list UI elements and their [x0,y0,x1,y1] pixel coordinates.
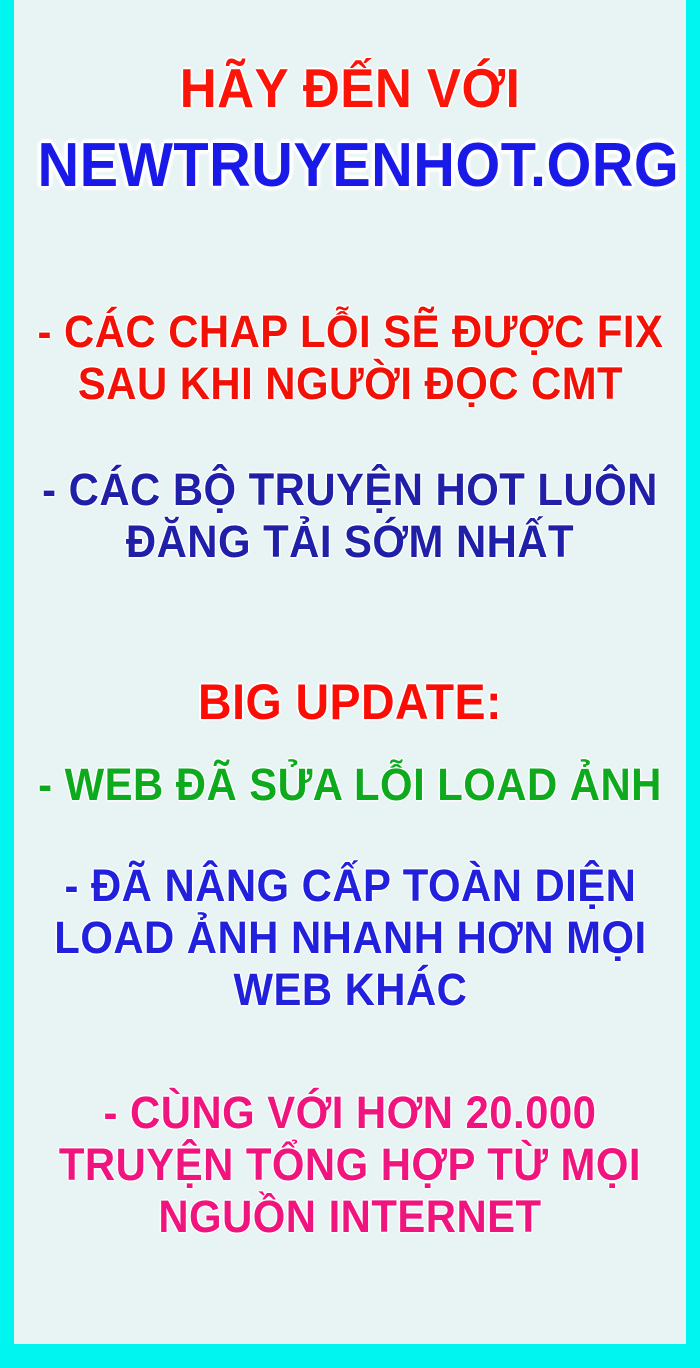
update-pink-line-1: - CÙNG VỚI HƠN 20.000 [59,1090,641,1136]
update-blue-line-1: - ĐÃ NÂNG CẤP TOÀN DIỆN [54,863,646,909]
update-pink-line-3: NGUỒN INTERNET [59,1194,641,1240]
notice-block-red: - CÁC CHAP LỖI SẼ ĐƯỢC FIX SAU KHI NGƯỜI… [14,309,687,407]
notice-navy-line-1: - CÁC BỘ TRUYỆN HOT LUÔN [42,467,658,513]
banner-headline: HÃY ĐẾN VỚI [38,60,663,116]
update-blue-line-2: LOAD ẢNH NHANH HƠN MỌI [54,915,646,961]
notice-block-navy: - CÁC BỘ TRUYỆN HOT LUÔN ĐĂNG TẢI SỚM NH… [19,467,681,565]
update-blue-line-3: WEB KHÁC [54,967,646,1013]
notice-red-line-1: - CÁC CHAP LỖI SẼ ĐƯỢC FIX [37,309,663,355]
update-section-title: BIG UPDATE: [38,677,663,728]
promo-banner: HÃY ĐẾN VỚI NEWTRUYENHOT.ORG - CÁC CHAP … [0,0,700,1368]
update-pink-line-2: TRUYỆN TỔNG HỢP TỪ MỌI [59,1142,641,1188]
update-item-pink: - CÙNG VỚI HƠN 20.000 TRUYỆN TỔNG HỢP TỪ… [37,1090,663,1240]
update-item-blue: - ĐÃ NÂNG CẤP TOÀN DIỆN LOAD ẢNH NHANH H… [32,863,669,1013]
notice-red-line-2: SAU KHI NGƯỜI ĐỌC CMT [37,361,663,407]
banner-content-panel: HÃY ĐẾN VỚI NEWTRUYENHOT.ORG - CÁC CHAP … [14,0,686,1344]
update-item-green: - WEB ĐÃ SỬA LỖI LOAD ẢNH [38,762,663,808]
notice-navy-line-2: ĐĂNG TẢI SỚM NHẤT [42,519,658,565]
banner-domain-name: NEWTRUYENHOT.ORG [38,134,663,197]
